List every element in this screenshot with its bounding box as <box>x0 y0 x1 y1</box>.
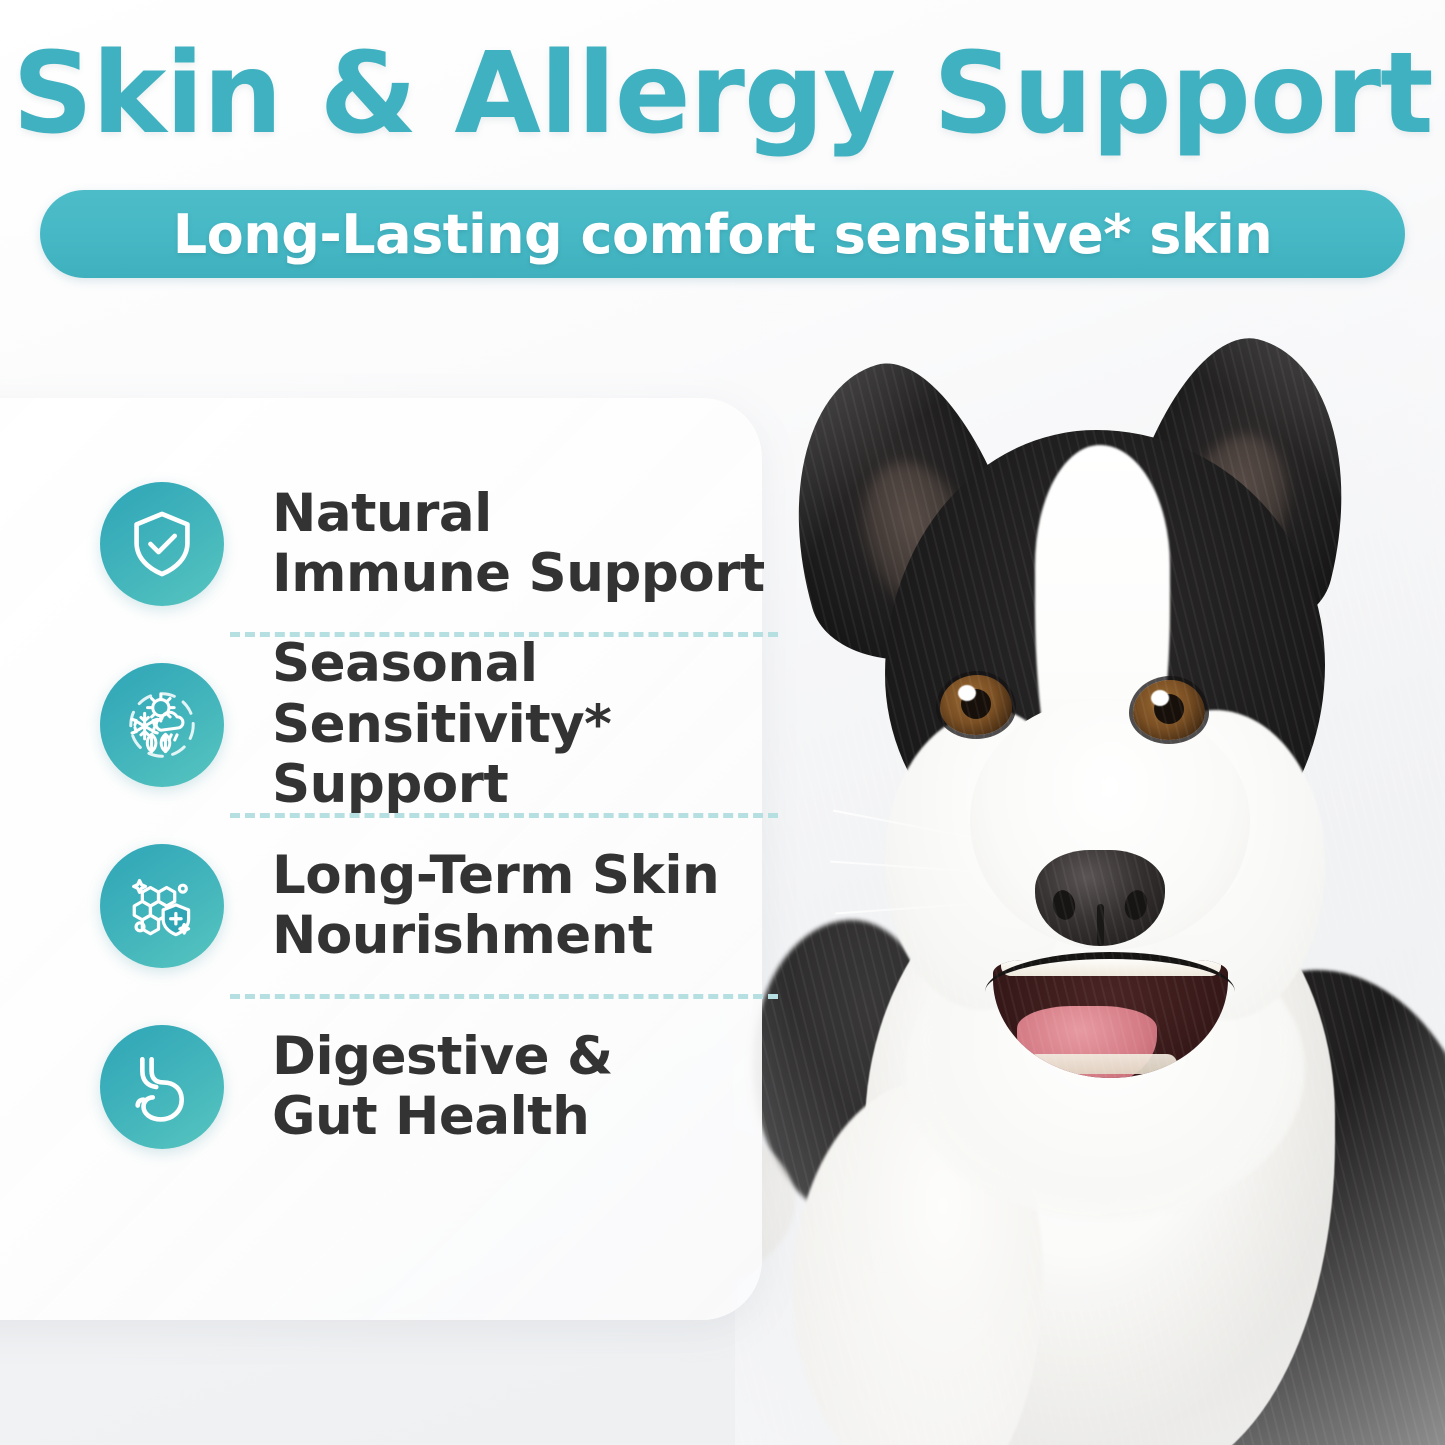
benefit-item-digestive-gut-health: Digestive & Gut Health <box>60 999 822 1175</box>
dog-nostril-left <box>1050 888 1078 922</box>
benefit-label: Seasonal Sensitivity* Support <box>272 634 822 815</box>
benefit-label: Natural Immune Support <box>272 484 765 605</box>
four-seasons-icon <box>125 688 199 762</box>
shield-check-icon <box>125 507 199 581</box>
subtitle-text: Long-Lasting comfort sensitive* skin <box>173 203 1273 266</box>
benefit-item-natural-immune-support: Natural Immune Support <box>60 456 822 632</box>
molecule-shield-icon <box>125 869 199 943</box>
benefit-item-long-term-skin-nourishment: Long-Term Skin Nourishment <box>60 818 822 994</box>
dog-photo <box>735 280 1445 1445</box>
benefit-icon-circle <box>100 1025 224 1149</box>
dog-nose-bridge <box>1097 904 1104 946</box>
benefit-label: Long-Term Skin Nourishment <box>272 846 719 967</box>
dog-eye-left <box>940 675 1012 735</box>
benefit-label: Digestive & Gut Health <box>272 1027 613 1148</box>
dog-illustration <box>735 280 1445 1445</box>
dog-nostril-right <box>1122 888 1150 922</box>
product-feature-poster: Skin & Allergy Support Long-Lasting comf… <box>0 0 1445 1445</box>
benefit-icon-circle <box>100 482 224 606</box>
dog-eye-right <box>1133 680 1205 740</box>
dog-eye-glint-left <box>958 685 976 701</box>
benefits-list: Natural Immune Support <box>60 398 822 1320</box>
dog-teeth-lower <box>1027 1054 1177 1074</box>
benefit-icon-circle <box>100 663 224 787</box>
page-title: Skin & Allergy Support <box>0 34 1445 155</box>
dog-eye-glint-right <box>1151 690 1169 706</box>
benefit-item-seasonal-sensitivity-support: Seasonal Sensitivity* Support <box>60 637 822 813</box>
stomach-icon <box>125 1050 199 1124</box>
benefit-icon-circle <box>100 844 224 968</box>
subtitle-banner: Long-Lasting comfort sensitive* skin <box>40 190 1405 278</box>
